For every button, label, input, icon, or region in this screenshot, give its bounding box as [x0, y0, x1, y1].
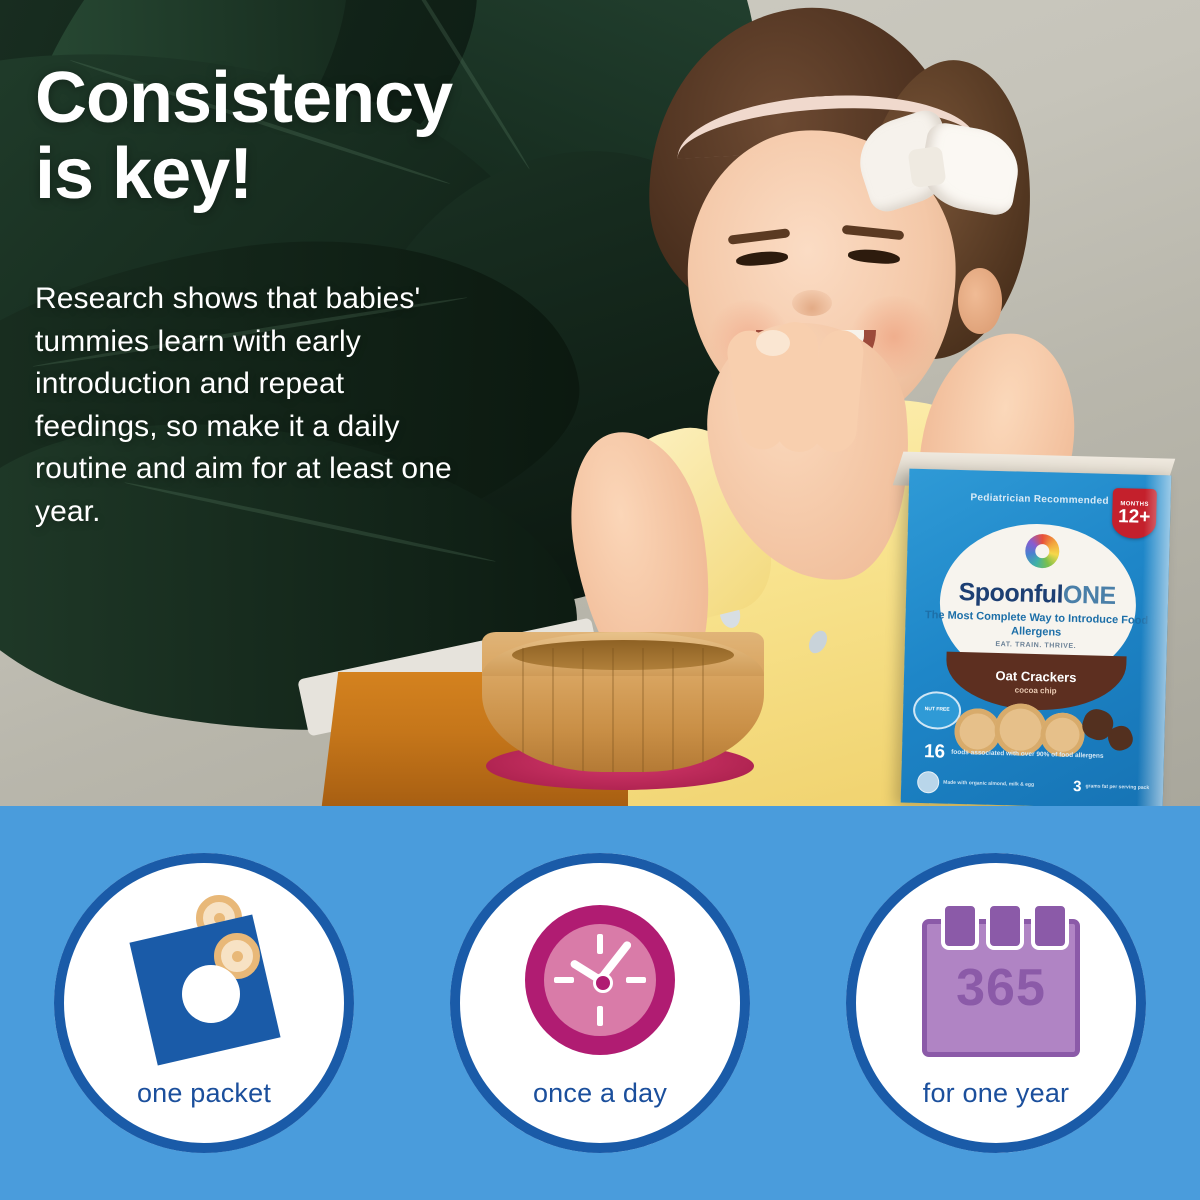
body-copy: Research shows that babies' tummies lear… — [35, 278, 455, 534]
baby-fingernail — [756, 330, 790, 356]
brand-name-first: Spoonful — [958, 578, 1063, 609]
flavor-name: Oat Crackers — [995, 668, 1076, 685]
headline-line-2: is key! — [35, 136, 675, 212]
allergen-claim-text: foods associated with over 90% of food a… — [951, 749, 1104, 761]
bowl-grain — [642, 648, 644, 772]
feature-once-a-day[interactable]: once a day — [450, 853, 750, 1153]
feature-circle-ring — [846, 853, 1146, 1153]
product-tagline: The Most Complete Way to Introduce Food … — [923, 609, 1150, 642]
allergen-claim-number: 16 — [924, 741, 946, 764]
brand-name-second: ONE — [1063, 581, 1116, 610]
product-subclaims: Made with organic almond, milk & egg 3 g… — [917, 771, 1149, 799]
bowl-grain — [582, 648, 584, 772]
feature-band: one packet once a day — [0, 806, 1200, 1200]
feature-list: one packet once a day — [0, 806, 1200, 1200]
hero-photo: Pediatrician Recommended MONTHS 12+ Spoo… — [0, 0, 1200, 806]
bamboo-bowl — [482, 632, 764, 772]
bowl-grain — [612, 648, 614, 772]
organic-subclaim-text: Made with organic almond, milk & egg — [943, 780, 1034, 788]
nut-free-badge: NUT FREE — [913, 691, 962, 730]
advertisement-poster: Pediatrician Recommended MONTHS 12+ Spoo… — [0, 0, 1200, 1200]
page-title: Consistency is key! — [35, 60, 675, 213]
baby-ear — [958, 268, 1002, 334]
bowl-grain — [672, 648, 674, 772]
feature-circle-ring — [450, 853, 750, 1153]
baby-hair-bow-knot — [908, 146, 947, 188]
product-box: Pediatrician Recommended MONTHS 12+ Spoo… — [901, 469, 1172, 806]
fat-subclaim-number: 3 — [1073, 778, 1082, 795]
feature-for-one-year[interactable]: 365 for one year — [846, 853, 1146, 1153]
organic-seal-icon — [917, 771, 940, 794]
flavor-subname: cocoa chip — [1015, 685, 1057, 695]
bowl-interior — [512, 640, 734, 670]
baby-nose — [792, 290, 832, 316]
organic-subclaim: Made with organic almond, milk & egg — [917, 771, 1034, 796]
feature-circle-ring — [54, 853, 354, 1153]
feature-one-packet[interactable]: one packet — [54, 853, 354, 1153]
bowl-grain — [552, 648, 554, 772]
bowl-grain — [522, 648, 524, 772]
bowl-grain — [702, 648, 704, 772]
headline-line-1: Consistency — [35, 60, 675, 136]
flavor-banner: Oat Crackers cocoa chip — [945, 652, 1126, 713]
allergen-claim: 16 foods associated with over 90% of foo… — [924, 741, 1145, 769]
